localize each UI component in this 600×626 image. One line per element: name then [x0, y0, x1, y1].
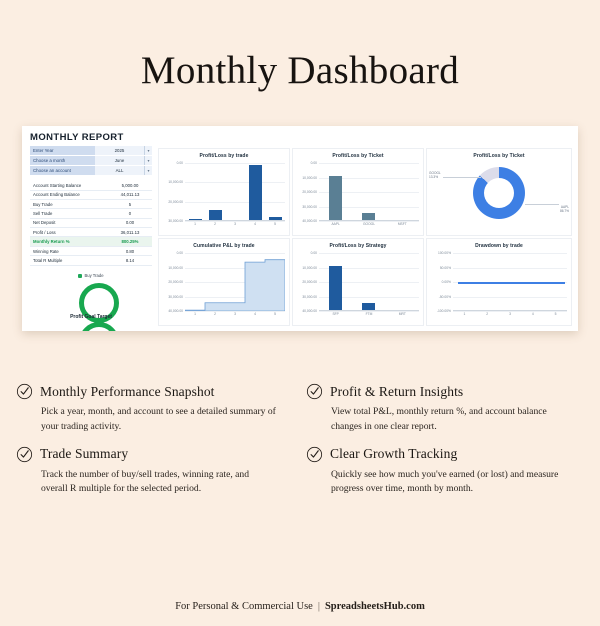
- x-axis-tick: 5: [266, 312, 284, 316]
- x-axis-tick: 3: [226, 312, 244, 316]
- leader-line: [525, 204, 559, 205]
- x-axis-tick: FTM: [360, 312, 378, 316]
- chevron-down-icon[interactable]: ▾: [145, 146, 152, 155]
- feature-description: Quickly see how much you've earned (or l…: [331, 468, 566, 497]
- stat-value: 8.14: [108, 258, 152, 263]
- plot-area: 100.00%50.00%0.00%-50.00%-100.00%: [453, 253, 567, 311]
- x-axis-tick: 4: [524, 312, 542, 316]
- y-axis-tick: 10,000.00: [302, 176, 317, 180]
- x-axis-tick: 5: [266, 222, 284, 226]
- feature-description: Pick a year, month, and account to see a…: [41, 405, 276, 434]
- feature-item: Profit & Return Insights View total P&L,…: [290, 371, 580, 434]
- feature-title: Clear Growth Tracking: [330, 446, 457, 462]
- bar: [329, 266, 342, 310]
- y-axis-tick: 20,000.00: [168, 200, 183, 204]
- y-axis-tick: 0.00: [177, 251, 183, 255]
- chevron-down-icon[interactable]: ▾: [145, 156, 152, 165]
- y-axis-tick: 0.00: [311, 251, 317, 255]
- legend-swatch-icon: [78, 274, 82, 278]
- gridline: [453, 253, 567, 254]
- x-axis: [319, 220, 419, 221]
- x-axis-tick: SFP: [327, 312, 345, 316]
- dashboard-screenshot: MONTHLY REPORT Enter Year2025▾Choose a m…: [22, 126, 578, 331]
- y-axis-tick: 30,000.00: [168, 295, 183, 299]
- buy-trade-legend: Buy Trade: [30, 273, 152, 278]
- feature-item: Monthly Performance Snapshot Pick a year…: [0, 371, 290, 434]
- pie-callout-label: AAPL86.7%: [560, 205, 569, 213]
- y-axis-tick: 50.00%: [440, 266, 451, 270]
- selector-label: Choose a month: [30, 156, 95, 165]
- x-axis-tick: 2: [478, 312, 496, 316]
- x-axis-tick: 1: [186, 312, 204, 316]
- footer-usage: For Personal & Commercial Use: [175, 601, 313, 612]
- gridline: [453, 297, 567, 298]
- chart-drawdown-by-trade: Drawdown by trade100.00%50.00%0.00%-50.0…: [426, 238, 572, 326]
- bar-series: [319, 253, 419, 310]
- chart-title: Profit/Loss by trade: [159, 149, 289, 159]
- pie-callout-label: GOOGL13.3%: [429, 171, 441, 179]
- y-axis-tick: 10,000.00: [302, 266, 317, 270]
- plot-area: 0.0010,000.0020,000.0030,000.0040,000.00: [319, 163, 419, 221]
- selector-value[interactable]: 2025: [95, 146, 145, 155]
- gridline: [185, 221, 285, 222]
- stat-row: Net Deposit0.00: [30, 219, 152, 228]
- bar: [362, 303, 375, 310]
- profit-goal-gauge: 800.25%: [79, 322, 119, 331]
- x-axis-tick: 3: [501, 312, 519, 316]
- bar: [189, 219, 202, 220]
- x-axis: [319, 310, 419, 311]
- page-title: Monthly Dashboard: [0, 26, 600, 90]
- y-axis-tick: 30,000.00: [302, 295, 317, 299]
- stat-row: Winning Rate0.80: [30, 247, 152, 256]
- x-axis-tick: MSFT: [393, 222, 411, 226]
- stat-row: Account Starting Balance5,000.00: [30, 181, 152, 190]
- plot-area: 0.0010,000.0020,000.0030,000.00: [185, 163, 285, 221]
- stat-value: 5: [108, 202, 152, 207]
- stat-row: Sell Trade0: [30, 209, 152, 218]
- stat-value: 44,011.13: [108, 192, 152, 197]
- check-circle-icon: [16, 446, 33, 463]
- bar-series: [185, 163, 285, 220]
- y-axis-tick: 40,000.00: [302, 309, 317, 313]
- stat-row: Profit / Loss36,011.13: [30, 228, 152, 237]
- feature-item: Clear Growth Tracking Quickly see how mu…: [290, 434, 580, 497]
- legend-label: Buy Trade: [84, 273, 103, 278]
- y-axis-tick: 0.00%: [442, 280, 451, 284]
- chart-profit-loss-by-trade: Profit/Loss by trade0.0010,000.0020,000.…: [158, 148, 290, 236]
- gridline: [319, 311, 419, 312]
- x-axis-tick: 4: [246, 222, 264, 226]
- selector-row[interactable]: Choose a monthJune▾: [30, 156, 152, 165]
- poster-page: Monthly Dashboard MONTHLY REPORT Enter Y…: [0, 26, 600, 626]
- x-axis-tick: 1: [186, 222, 204, 226]
- x-axis-tick: 2: [206, 312, 224, 316]
- plot-area: GOOGL13.3%AAPL86.7%: [427, 159, 571, 227]
- gridline: [453, 268, 567, 269]
- x-axis-tick: AAPL: [327, 222, 345, 226]
- bar: [269, 217, 282, 220]
- chart-title: Profit/Loss by Ticket: [427, 149, 571, 159]
- y-axis-tick: -50.00%: [439, 295, 451, 299]
- stats-table: Account Starting Balance5,000.00Account …: [30, 181, 152, 266]
- dashboard-screenshot-card: MONTHLY REPORT Enter Year2025▾Choose a m…: [22, 126, 578, 331]
- chart-profit-loss-by-ticket-bar: Profit/Loss by Ticket0.0010,000.0020,000…: [292, 148, 424, 236]
- x-axis-tick: 1: [455, 312, 473, 316]
- stat-label: Winning Rate: [30, 249, 108, 254]
- stat-row: Buy Trade5: [30, 200, 152, 209]
- feature-title: Profit & Return Insights: [330, 384, 463, 400]
- stat-label: Account Ending Balance: [30, 192, 108, 197]
- selector-label: Choose an account: [30, 166, 95, 175]
- feature-row-bottom: Trade Summary Track the number of buy/se…: [0, 434, 600, 497]
- x-axis-tick: 3: [226, 222, 244, 226]
- y-axis-tick: 10,000.00: [168, 180, 183, 184]
- y-axis-tick: 20,000.00: [302, 280, 317, 284]
- y-axis-tick: 0.00: [177, 161, 183, 165]
- stat-value: 0.00: [108, 220, 152, 225]
- chart-title: Cumulative P&L by trade: [159, 239, 289, 249]
- bar: [329, 176, 342, 220]
- feature-description: Track the number of buy/sell trades, win…: [41, 468, 276, 497]
- gridline: [185, 311, 285, 312]
- check-circle-icon: [306, 383, 323, 400]
- report-title: MONTHLY REPORT: [30, 132, 124, 143]
- footer: For Personal & Commercial Use|Spreadshee…: [0, 601, 600, 612]
- x-axis: [453, 310, 567, 311]
- y-axis-tick: 20,000.00: [168, 280, 183, 284]
- selector-row[interactable]: Choose an accountALL▾: [30, 166, 152, 175]
- selector-table: Enter Year2025▾Choose a monthJune▾Choose…: [30, 146, 152, 176]
- selector-value[interactable]: June: [95, 156, 145, 165]
- y-axis-tick: 40,000.00: [168, 309, 183, 313]
- stat-value: 0.80: [108, 249, 152, 254]
- chart-title: Drawdown by trade: [427, 239, 571, 249]
- profit-goal-label: Profit Goal Target: [30, 314, 152, 320]
- stat-label: Total R Multiple: [30, 258, 108, 263]
- check-circle-icon: [16, 383, 33, 400]
- area-series: [185, 253, 285, 311]
- feature-list: Monthly Performance Snapshot Pick a year…: [0, 371, 600, 497]
- chart-title: Profit/Loss by Strategy: [293, 239, 423, 249]
- y-axis-tick: 30,000.00: [168, 219, 183, 223]
- stat-value: 5,000.00: [108, 183, 152, 188]
- y-axis-tick: -100.00%: [437, 309, 451, 313]
- x-axis-tick: 2: [206, 222, 224, 226]
- feature-description: View total P&L, monthly return %, and ac…: [331, 405, 566, 434]
- stat-label: Monthly Return %: [30, 239, 108, 244]
- selector-label: Enter Year: [30, 146, 95, 155]
- x-axis-tick: 5: [547, 312, 565, 316]
- stat-row: Account Ending Balance44,011.13: [30, 191, 152, 200]
- x-axis-tick: MRT: [393, 312, 411, 316]
- bar-series: [319, 163, 419, 220]
- y-axis-tick: 20,000.00: [302, 190, 317, 194]
- feature-row-top: Monthly Performance Snapshot Pick a year…: [0, 371, 600, 434]
- stat-value: 0: [108, 211, 152, 216]
- bar: [362, 213, 375, 220]
- donut-hole: [484, 178, 514, 208]
- y-axis-tick: 0.00: [311, 161, 317, 165]
- footer-separator: |: [313, 601, 325, 612]
- x-axis: [185, 220, 285, 221]
- feature-title: Trade Summary: [40, 446, 128, 462]
- chart-title: Profit/Loss by Ticket: [293, 149, 423, 159]
- footer-brand: SpreadsheetsHub.com: [325, 601, 425, 612]
- plot-area: 0.0010,000.0020,000.0030,000.0040,000.00: [319, 253, 419, 311]
- chevron-down-icon[interactable]: ▾: [145, 166, 152, 175]
- x-axis-tick: GOOGL: [360, 222, 378, 226]
- bar: [249, 165, 262, 220]
- y-axis-tick: 100.00%: [438, 251, 451, 255]
- selector-value[interactable]: ALL: [95, 166, 145, 175]
- y-axis-tick: 30,000.00: [302, 205, 317, 209]
- check-circle-icon: [306, 446, 323, 463]
- y-axis-tick: 10,000.00: [168, 266, 183, 270]
- stat-label: Buy Trade: [30, 202, 108, 207]
- stat-label: Sell Trade: [30, 211, 108, 216]
- selector-row[interactable]: Enter Year2025▾: [30, 146, 152, 155]
- x-axis-tick: 4: [246, 312, 264, 316]
- stat-row: Monthly Return %800.25%: [30, 237, 152, 246]
- feature-item: Trade Summary Track the number of buy/se…: [0, 434, 290, 497]
- gridline: [453, 311, 567, 312]
- feature-title: Monthly Performance Snapshot: [40, 384, 215, 400]
- stat-label: Profit / Loss: [30, 230, 108, 235]
- stat-value: 36,011.13: [108, 230, 152, 235]
- y-axis-tick: 40,000.00: [302, 219, 317, 223]
- plot-area: 0.0010,000.0020,000.0030,000.0040,000.00: [185, 253, 285, 311]
- stat-label: Net Deposit: [30, 220, 108, 225]
- leader-line: [443, 177, 481, 178]
- chart-profit-loss-by-ticket-donut: Profit/Loss by TicketGOOGL13.3%AAPL86.7%: [426, 148, 572, 236]
- line-series: [458, 282, 565, 284]
- chart-cumulative-pl-by-trade: Cumulative P&L by trade0.0010,000.0020,0…: [158, 238, 290, 326]
- stat-label: Account Starting Balance: [30, 183, 108, 188]
- stat-row: Total R Multiple8.14: [30, 256, 152, 265]
- gridline: [319, 221, 419, 222]
- stat-value: 800.25%: [108, 239, 152, 244]
- bar: [209, 210, 222, 220]
- chart-profit-loss-by-strategy: Profit/Loss by Strategy0.0010,000.0020,0…: [292, 238, 424, 326]
